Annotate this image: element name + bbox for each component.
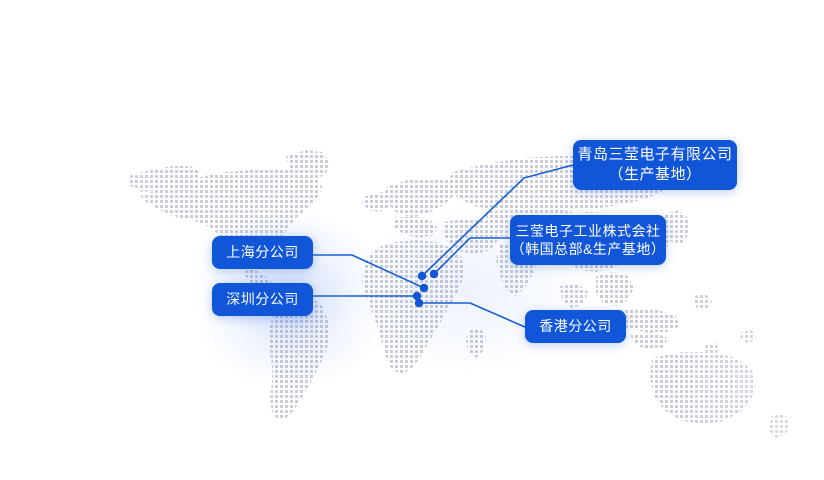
line-korea [434, 238, 510, 274]
location-label-shanghai[interactable]: 上海分公司 [212, 236, 313, 269]
location-label-hongkong[interactable]: 香港分公司 [525, 310, 626, 343]
marker-hongkong [415, 299, 423, 307]
korea-line2: （韩国总部&生产基地） [511, 240, 666, 258]
marker-qingdao [418, 272, 426, 280]
marker-korea [430, 270, 438, 278]
qingdao-line1: 青岛三莹电子有限公司 [577, 145, 732, 165]
line-hongkong [419, 303, 525, 327]
connector-lines [0, 0, 824, 480]
qingdao-line2: （生产基地） [608, 165, 701, 185]
location-label-shenzhen[interactable]: 深圳分公司 [212, 283, 313, 316]
location-label-korea[interactable]: 三莹电子工业株式会社 （韩国总部&生产基地） [510, 215, 666, 265]
korea-line1: 三莹电子工业株式会社 [516, 222, 661, 240]
location-markers [413, 270, 438, 307]
map-stage: 青岛三莹电子有限公司 （生产基地） 三莹电子工业株式会社 （韩国总部&生产基地）… [0, 0, 824, 480]
line-shanghai [313, 255, 424, 288]
location-label-qingdao[interactable]: 青岛三莹电子有限公司 （生产基地） [573, 140, 737, 190]
hongkong-line1: 香港分公司 [539, 317, 612, 335]
marker-shanghai [420, 284, 428, 292]
shanghai-line1: 上海分公司 [226, 243, 299, 261]
shenzhen-line1: 深圳分公司 [226, 290, 299, 308]
